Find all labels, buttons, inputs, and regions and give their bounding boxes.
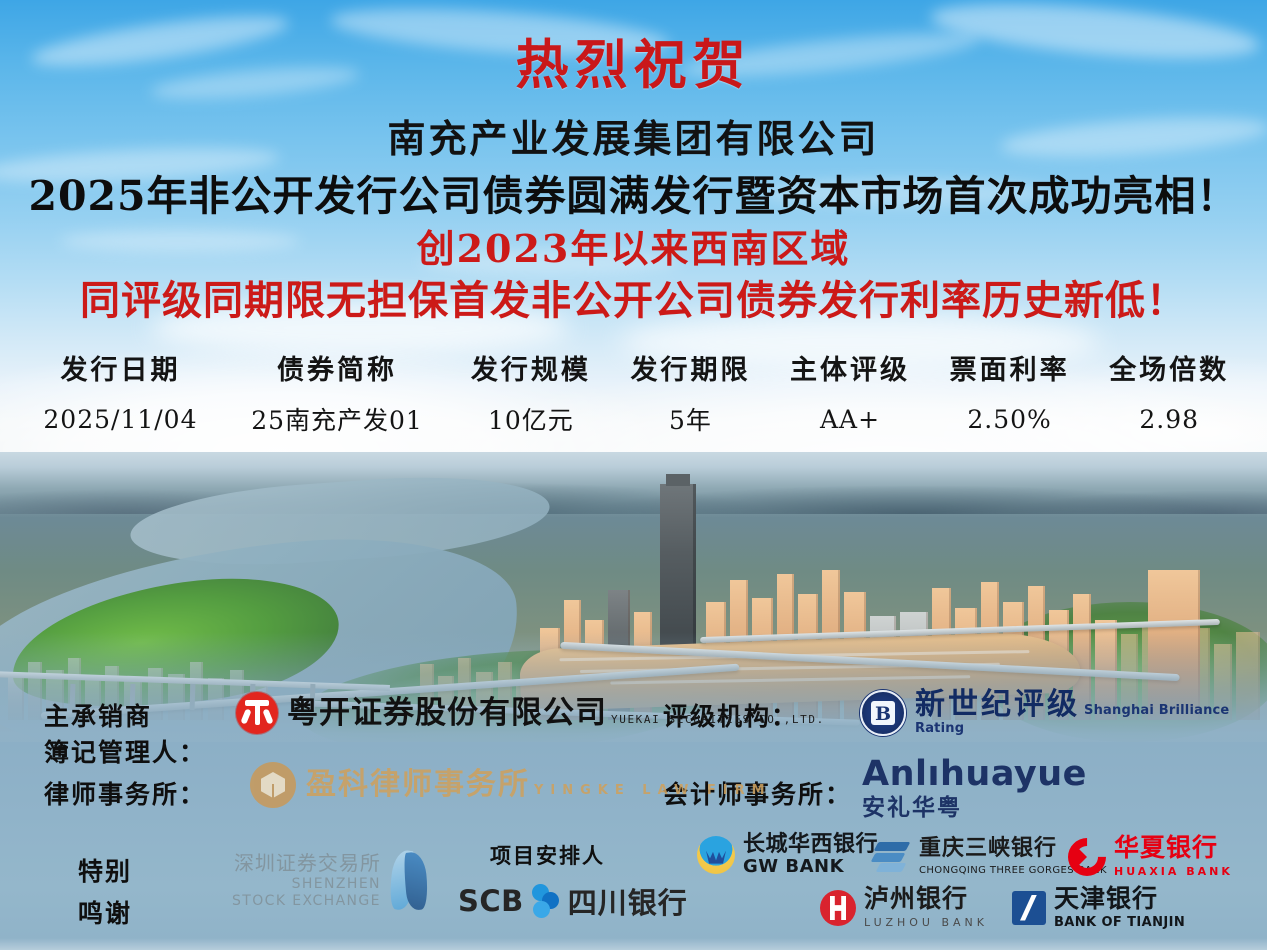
anlihuayue-name-cn: 安礼华粤 bbox=[862, 797, 1087, 820]
luzhou-bank-name-en: LUZHOU BANK bbox=[864, 916, 988, 929]
bond-summary-table: 发行日期 债券简称 发行规模 发行期限 主体评级 票面利率 全场倍数 2025/… bbox=[18, 344, 1249, 448]
col-header-issue-date: 发行日期 bbox=[18, 344, 223, 390]
label-bookrunner: 簿记管理人： bbox=[44, 733, 206, 769]
sichuan-bank-name-cn: 四川银行 bbox=[568, 880, 688, 922]
col-header-subscription-multiple: 全场倍数 bbox=[1089, 344, 1249, 390]
huaxia-bank-name-en: HUAXIA BANK bbox=[1114, 865, 1233, 878]
cell-issue-size: 10亿元 bbox=[451, 390, 611, 448]
brilliance-seal-icon bbox=[860, 690, 906, 736]
logo-yingke-law-firm: 盈科律师事务所 YINGKE LAW FIRM bbox=[250, 762, 772, 808]
table-header-row: 发行日期 债券简称 发行规模 发行期限 主体评级 票面利率 全场倍数 bbox=[18, 344, 1249, 390]
cell-tenor: 5年 bbox=[611, 390, 771, 448]
bank-of-tianjin-name-en: BANK OF TIANJIN bbox=[1054, 915, 1185, 930]
yuekai-name-en: YUEKAI SECURITIES CO.,LTD. bbox=[611, 713, 825, 726]
logo-luzhou-bank: 泸州银行 LUZHOU BANK bbox=[820, 885, 988, 931]
poster-root: 热烈祝贺 南充产业发展集团有限公司 2025年非公开发行公司债券圆满发行暨资本市… bbox=[0, 0, 1267, 950]
label-project-arranger: 项目安排人 bbox=[490, 840, 605, 870]
yingke-name-en: YINGKE LAW FIRM bbox=[534, 783, 772, 798]
three-gorges-name-cn: 重庆三峡银行 bbox=[919, 835, 1057, 861]
three-gorges-mark-icon bbox=[872, 841, 912, 873]
scb-abbrev: SCB bbox=[458, 884, 524, 918]
yuekai-mark-icon bbox=[236, 692, 278, 734]
highlight-line-2: 同评级同期限无担保首发非公开公司债券发行利率历史新低！ bbox=[0, 268, 1267, 326]
anlihuayue-name-en: Anlıhuayue bbox=[862, 757, 1087, 792]
cell-subscription-multiple: 2.98 bbox=[1089, 390, 1249, 448]
col-header-coupon-rate: 票面利率 bbox=[930, 344, 1090, 390]
logo-sichuan-bank: SCB 四川银行 bbox=[458, 880, 688, 922]
company-name: 南充产业发展集团有限公司 bbox=[0, 108, 1267, 163]
yingke-cube-icon bbox=[250, 762, 296, 808]
huaxia-bank-mark-icon bbox=[1060, 830, 1114, 884]
brilliance-name-cn: 新世纪评级 bbox=[915, 687, 1080, 722]
cell-bond-name: 25南充产发01 bbox=[223, 390, 451, 448]
luzhou-bank-name-cn: 泸州银行 bbox=[864, 884, 968, 913]
logo-gw-bank: 长城华西银行 GW BANK bbox=[697, 833, 878, 876]
highlight-line-1: 创2023年以来西南区域 bbox=[0, 218, 1267, 273]
yingke-name-cn: 盈科律师事务所 bbox=[306, 767, 530, 802]
label-special-thanks-1: 特别 bbox=[78, 852, 132, 888]
table-row: 2025/11/04 25南充产发01 10亿元 5年 AA+ 2.50% 2.… bbox=[18, 390, 1249, 448]
logo-anlihuayue: Anlıhuayue 安礼华粤 bbox=[862, 757, 1087, 820]
szse-name-cn: 深圳证券交易所 bbox=[234, 851, 381, 875]
logo-huaxia-bank: 华夏银行 HUAXIA BANK bbox=[1068, 834, 1233, 879]
label-special-thanks-2: 鸣谢 bbox=[78, 894, 132, 930]
page-headline: 热烈祝贺 bbox=[0, 38, 1267, 94]
bank-of-tianjin-name-cn: 天津银行 bbox=[1054, 884, 1158, 913]
szse-name-en-2: STOCK EXCHANGE bbox=[232, 893, 381, 909]
huaxia-bank-name-cn: 华夏银行 bbox=[1114, 833, 1218, 862]
gw-bank-name-en: GW BANK bbox=[743, 856, 844, 877]
luzhou-bank-mark-icon bbox=[820, 890, 856, 926]
cell-issuer-rating: AA+ bbox=[770, 390, 930, 448]
col-header-issue-size: 发行规模 bbox=[451, 344, 611, 390]
announcement-main-line: 2025年非公开发行公司债券圆满发行暨资本市场首次成功亮相！ bbox=[0, 162, 1267, 222]
logo-shanghai-brilliance-rating: 新世纪评级 Shanghai Brilliance Rating bbox=[860, 690, 1267, 736]
logo-bank-of-tianjin: 天津银行 BANK OF TIANJIN bbox=[1012, 885, 1185, 930]
col-header-tenor: 发行期限 bbox=[611, 344, 771, 390]
sichuan-bank-mark-icon bbox=[531, 883, 561, 919]
logo-yuekai-securities: 粤开证券股份有限公司 YUEKAI SECURITIES CO.,LTD. bbox=[236, 692, 825, 734]
szse-feather-icon bbox=[387, 850, 435, 912]
cell-coupon-rate: 2.50% bbox=[930, 390, 1090, 448]
label-lead-underwriter: 主承销商 bbox=[44, 697, 152, 733]
gw-bank-name-cn: 长城华西银行 bbox=[743, 832, 878, 857]
label-law-firm: 律师事务所： bbox=[44, 775, 206, 811]
gw-bank-mark-icon bbox=[697, 836, 735, 874]
col-header-bond-name: 债券简称 bbox=[223, 344, 451, 390]
szse-name-en-1: SHENZHEN bbox=[292, 876, 381, 892]
col-header-issuer-rating: 主体评级 bbox=[770, 344, 930, 390]
cell-issue-date: 2025/11/04 bbox=[18, 390, 223, 448]
logo-shenzhen-stock-exchange: 深圳证券交易所 SHENZHEN STOCK EXCHANGE bbox=[232, 850, 435, 912]
bank-of-tianjin-mark-icon bbox=[1012, 891, 1046, 925]
yuekai-name-cn: 粤开证券股份有限公司 bbox=[287, 695, 607, 731]
